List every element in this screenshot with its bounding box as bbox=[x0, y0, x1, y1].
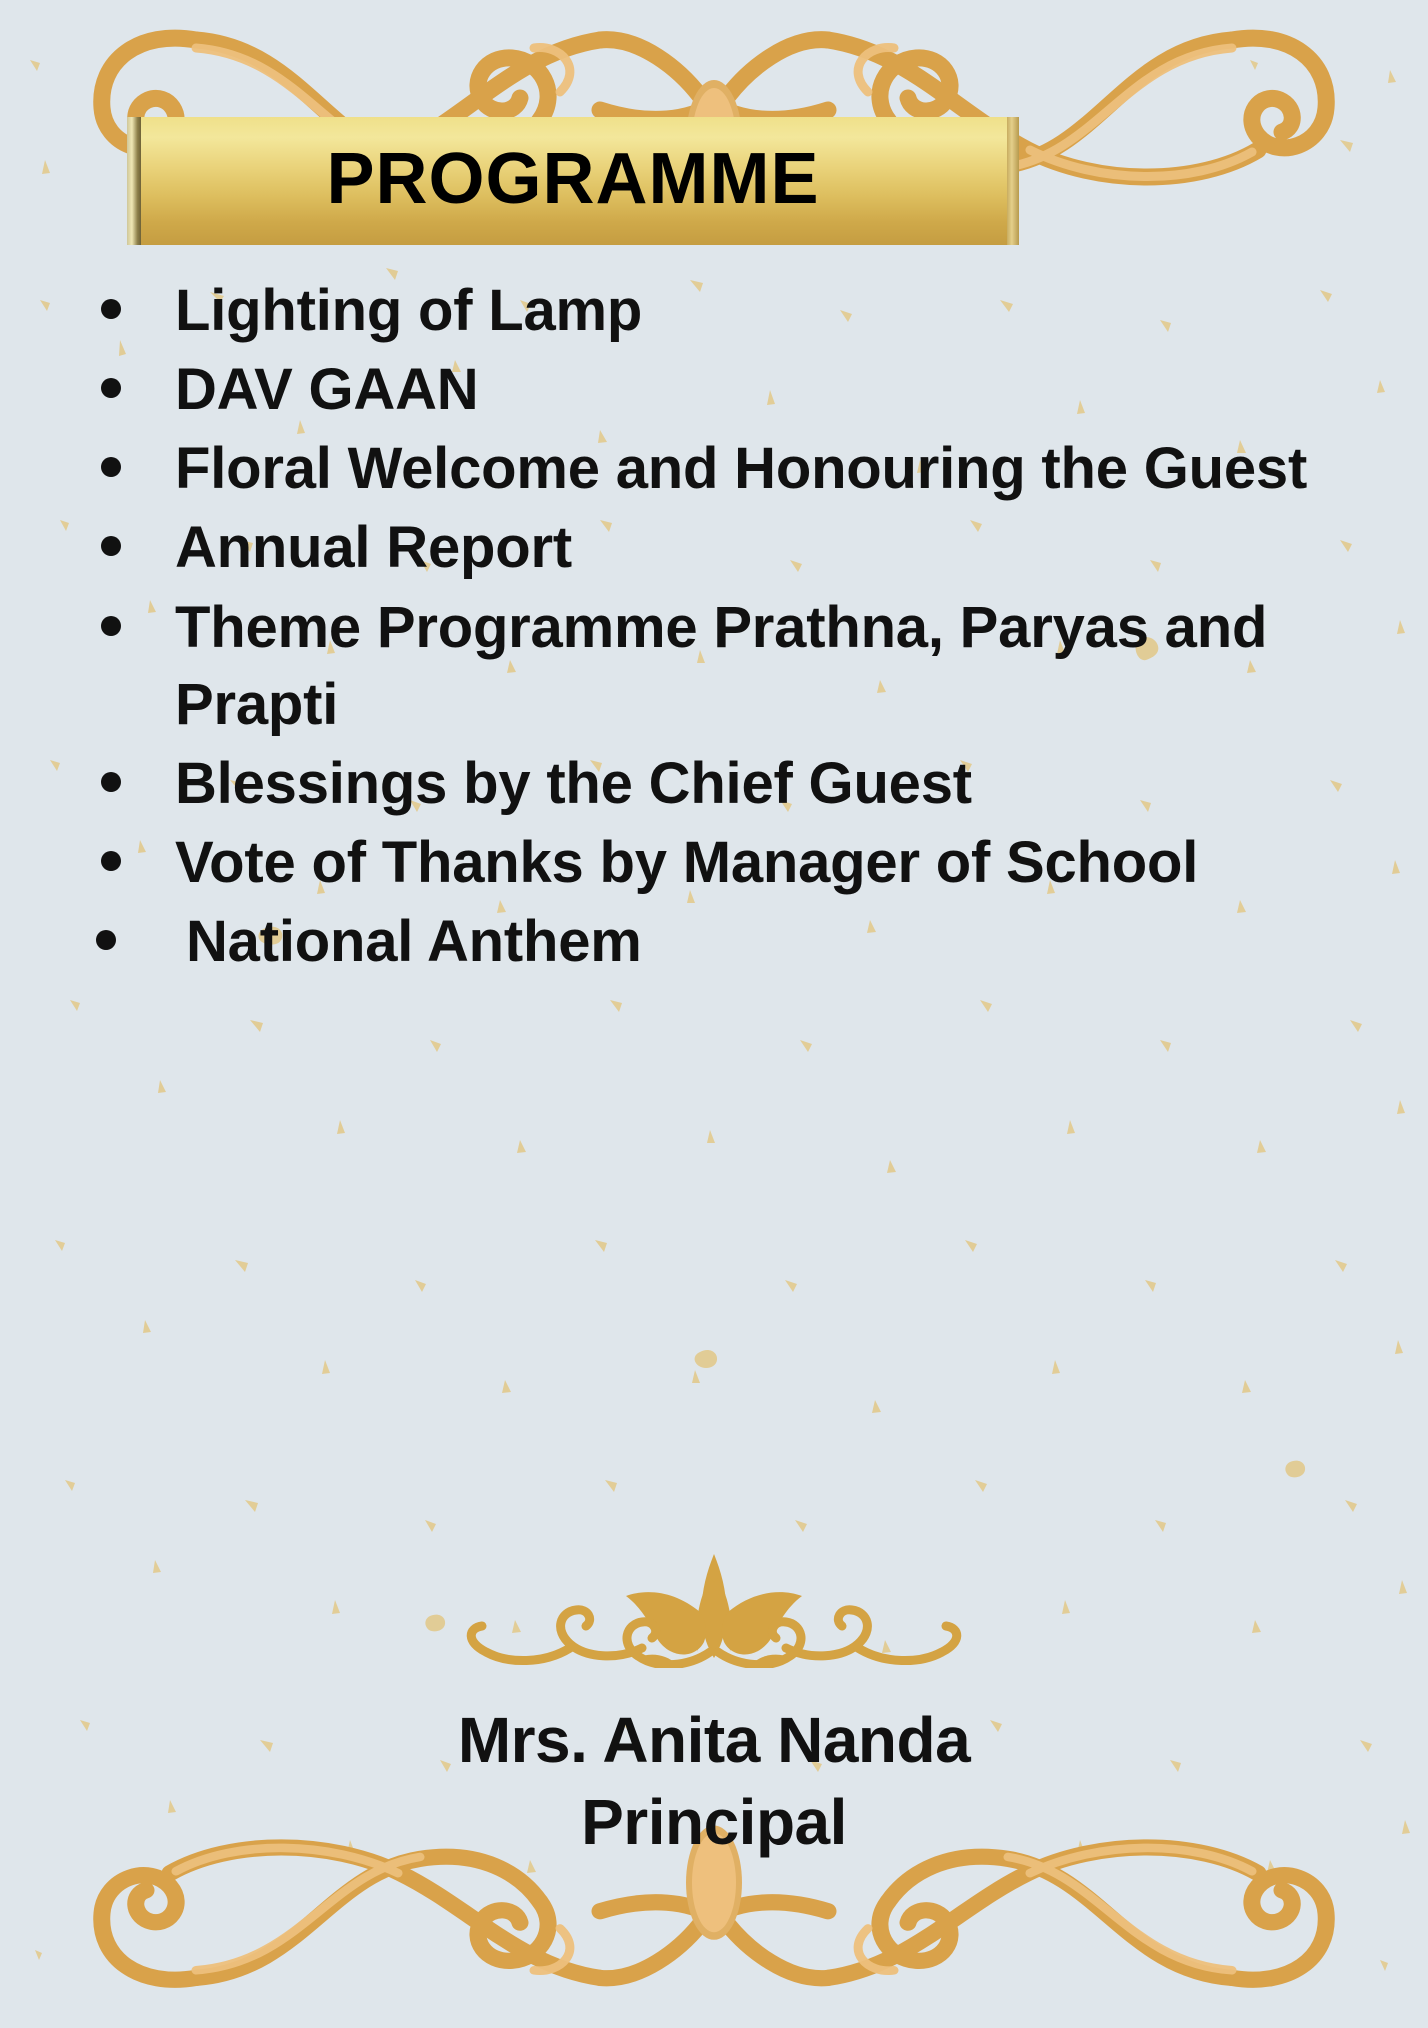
programme-list: Lighting of Lamp DAV GAAN Floral Welcome… bbox=[0, 272, 1428, 982]
list-item: DAV GAAN bbox=[0, 351, 1428, 428]
list-item-label: Floral Welcome and Honouring the Guest bbox=[175, 436, 1307, 501]
bullet-icon bbox=[101, 851, 121, 871]
list-item: National Anthem bbox=[0, 903, 1428, 980]
list-item-label: Vote of Thanks by Manager of School bbox=[175, 830, 1198, 895]
bullet-icon bbox=[96, 930, 116, 950]
principal-name: Mrs. Anita Nanda bbox=[0, 1700, 1428, 1782]
fleuron-divider-ornament bbox=[404, 1548, 1024, 1668]
bullet-icon bbox=[101, 536, 121, 556]
page-title: PROGRAMME bbox=[127, 117, 1019, 245]
programme-title-banner: PROGRAMME bbox=[127, 117, 1019, 245]
signature-block: Mrs. Anita Nanda Principal bbox=[0, 1700, 1428, 1864]
list-item: Blessings by the Chief Guest bbox=[0, 745, 1428, 822]
list-item: Theme Programme Prathna, Paryas and Prap… bbox=[0, 589, 1428, 743]
list-item: Annual Report bbox=[0, 509, 1428, 586]
list-item: Floral Welcome and Honouring the Guest bbox=[0, 430, 1428, 507]
list-item-label: Blessings by the Chief Guest bbox=[175, 751, 972, 816]
list-item-label: Annual Report bbox=[175, 515, 572, 580]
list-item-label: Theme Programme Prathna, Paryas and Prap… bbox=[175, 595, 1267, 737]
programme-poster: PROGRAMME Lighting of Lamp DAV GAAN Flor… bbox=[0, 0, 1428, 2028]
bullet-icon bbox=[101, 616, 121, 636]
bullet-icon bbox=[101, 772, 121, 792]
list-item-label: National Anthem bbox=[186, 909, 642, 974]
bullet-icon bbox=[101, 299, 121, 319]
principal-role: Principal bbox=[0, 1782, 1428, 1864]
list-item-label: DAV GAAN bbox=[175, 357, 478, 422]
list-item-label: Lighting of Lamp bbox=[175, 278, 642, 343]
list-item: Vote of Thanks by Manager of School bbox=[0, 824, 1428, 901]
bullet-icon bbox=[101, 457, 121, 477]
list-item: Lighting of Lamp bbox=[0, 272, 1428, 349]
bullet-icon bbox=[101, 378, 121, 398]
